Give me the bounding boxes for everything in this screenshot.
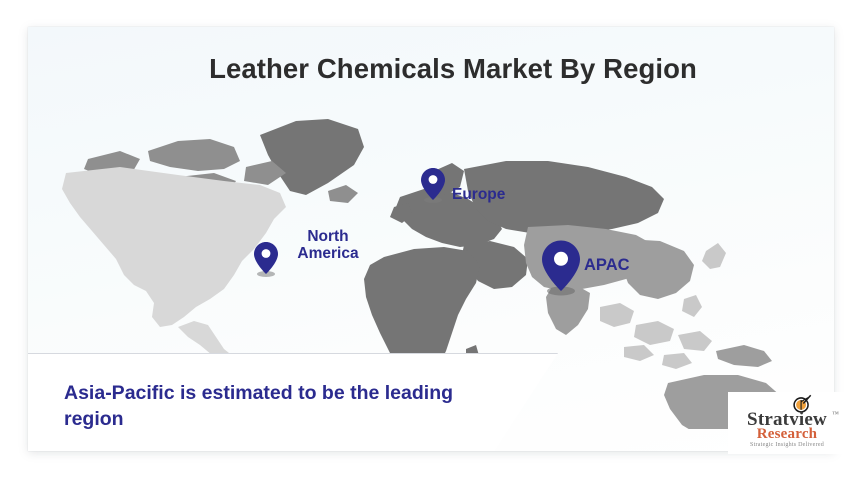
map-marker-europe[interactable] [420,167,446,203]
landmass-japan [702,243,726,269]
marker-dot-europe [429,175,438,184]
landmass-greenland [260,119,364,195]
caption-text: Asia-Pacific is estimated to be the lead… [64,381,504,432]
caption-divider [28,353,558,354]
marker-dot-north-america [262,249,271,258]
marker-pin-europe [421,168,445,200]
logo-research-word: Research [728,426,846,443]
marker-pin-north-america [254,242,278,274]
page-title: Leather Chemicals Market By Region [143,53,763,85]
marker-dot-apac [554,252,568,266]
map-marker-apac[interactable] [540,239,582,295]
caption-banner: Asia-Pacific is estimated to be the lead… [28,353,558,451]
logo-tagline: Strategic Insights Delivered [728,442,846,448]
slide-card: Leather Chemicals Market By Region [28,27,834,451]
map-marker-north-america[interactable] [253,241,279,277]
brand-logo: Stratview ™ Research Strategic Insights … [728,392,856,454]
landmass-new-guinea [716,345,772,367]
landmass-iceland [328,185,358,203]
map-label-north-america: North America [286,228,370,263]
slide-canvas: Leather Chemicals Market By Region [0,0,867,486]
map-label-europe: Europe [452,186,505,203]
landmass-philippines [682,295,702,317]
landmass-china-east [620,239,694,299]
map-label-apac: APAC [584,256,630,274]
logo-trademark-symbol: ™ [832,410,839,418]
